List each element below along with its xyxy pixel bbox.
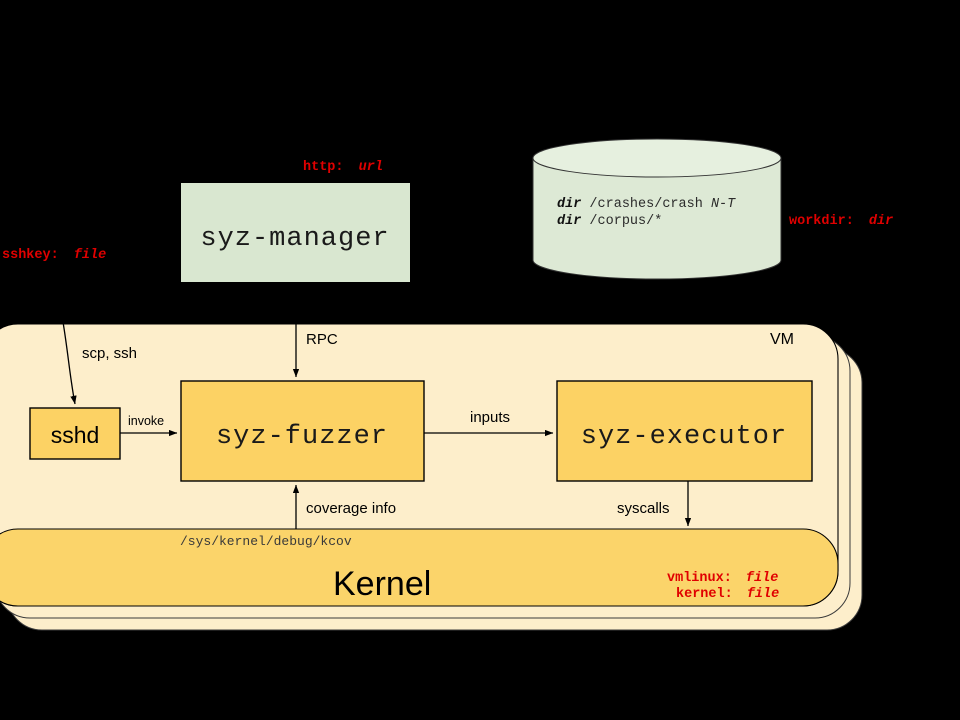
syz-fuzzer-box[interactable]: syz-fuzzer bbox=[181, 381, 424, 481]
syz-manager-box[interactable]: syz-manager bbox=[181, 183, 410, 282]
kernel-box[interactable]: /sys/kernel/debug/kcov Kernel vmlinux: f… bbox=[0, 529, 838, 606]
workdir-annotation-value: dir bbox=[869, 214, 893, 229]
workdir-store-line-2-rest: /corpus/* bbox=[589, 214, 662, 229]
workdir-store-line-2: dir /corpus/* bbox=[557, 214, 662, 229]
workdir-store-line-1-key: dir bbox=[557, 197, 581, 212]
kernel-annotation-kernel-key: kernel: bbox=[676, 587, 733, 602]
syzkaller-architecture-diagram: VM /sys/kernel/debug/kcov Kernel vmlinux… bbox=[0, 0, 960, 720]
kernel-annotation-kernel: kernel: file bbox=[676, 587, 779, 602]
edge-inputs-label: inputs bbox=[470, 409, 510, 426]
edge-coverage-info-label: coverage info bbox=[306, 500, 396, 517]
sshd-box[interactable]: sshd bbox=[30, 408, 120, 459]
workdir-store-line-1-rest: /crashes/crash bbox=[589, 197, 702, 212]
kernel-annotation-vmlinux-value: file bbox=[746, 571, 778, 586]
syz-manager-label: syz-manager bbox=[200, 224, 389, 254]
manager-annotation-http-value: url bbox=[359, 160, 383, 175]
sshd-label: sshd bbox=[51, 422, 100, 448]
syz-executor-label: syz-executor bbox=[581, 422, 787, 452]
edge-invoke-label: invoke bbox=[128, 414, 164, 428]
manager-annotation-http: http: url bbox=[303, 160, 383, 175]
workdir-store-line-2-key: dir bbox=[557, 214, 581, 229]
manager-annotation-sshkey: sshkey: file bbox=[2, 248, 106, 263]
syz-executor-box[interactable]: syz-executor bbox=[557, 381, 812, 481]
workdir-store-line-1: dir /crashes/crash N-T bbox=[557, 197, 736, 212]
diagram-canvas: VM /sys/kernel/debug/kcov Kernel vmlinux… bbox=[0, 0, 960, 720]
workdir-store-line-1-var: N-T bbox=[711, 197, 736, 212]
edge-scp-ssh-label: scp, ssh bbox=[82, 345, 137, 362]
kernel-annotation-vmlinux-key: vmlinux: bbox=[667, 571, 732, 586]
vm-label: VM bbox=[770, 331, 794, 348]
kernel-label: Kernel bbox=[333, 565, 431, 603]
kernel-annotation-vmlinux: vmlinux: file bbox=[667, 571, 778, 586]
workdir-store-cylinder[interactable]: dir /crashes/crash N-T dir /corpus/* bbox=[533, 139, 781, 279]
edge-syscalls-label: syscalls bbox=[617, 500, 670, 517]
workdir-annotation-key: workdir: bbox=[789, 214, 854, 229]
manager-annotation-sshkey-key: sshkey: bbox=[2, 248, 59, 263]
manager-annotation-http-key: http: bbox=[303, 160, 344, 175]
workdir-annotation: workdir: dir bbox=[789, 214, 893, 229]
kernel-annotation-kernel-value: file bbox=[747, 587, 779, 602]
edge-rpc-label: RPC bbox=[306, 331, 338, 348]
syz-fuzzer-label: syz-fuzzer bbox=[216, 422, 388, 452]
manager-annotation-sshkey-value: file bbox=[74, 248, 106, 263]
kcov-path-label: /sys/kernel/debug/kcov bbox=[180, 534, 352, 549]
